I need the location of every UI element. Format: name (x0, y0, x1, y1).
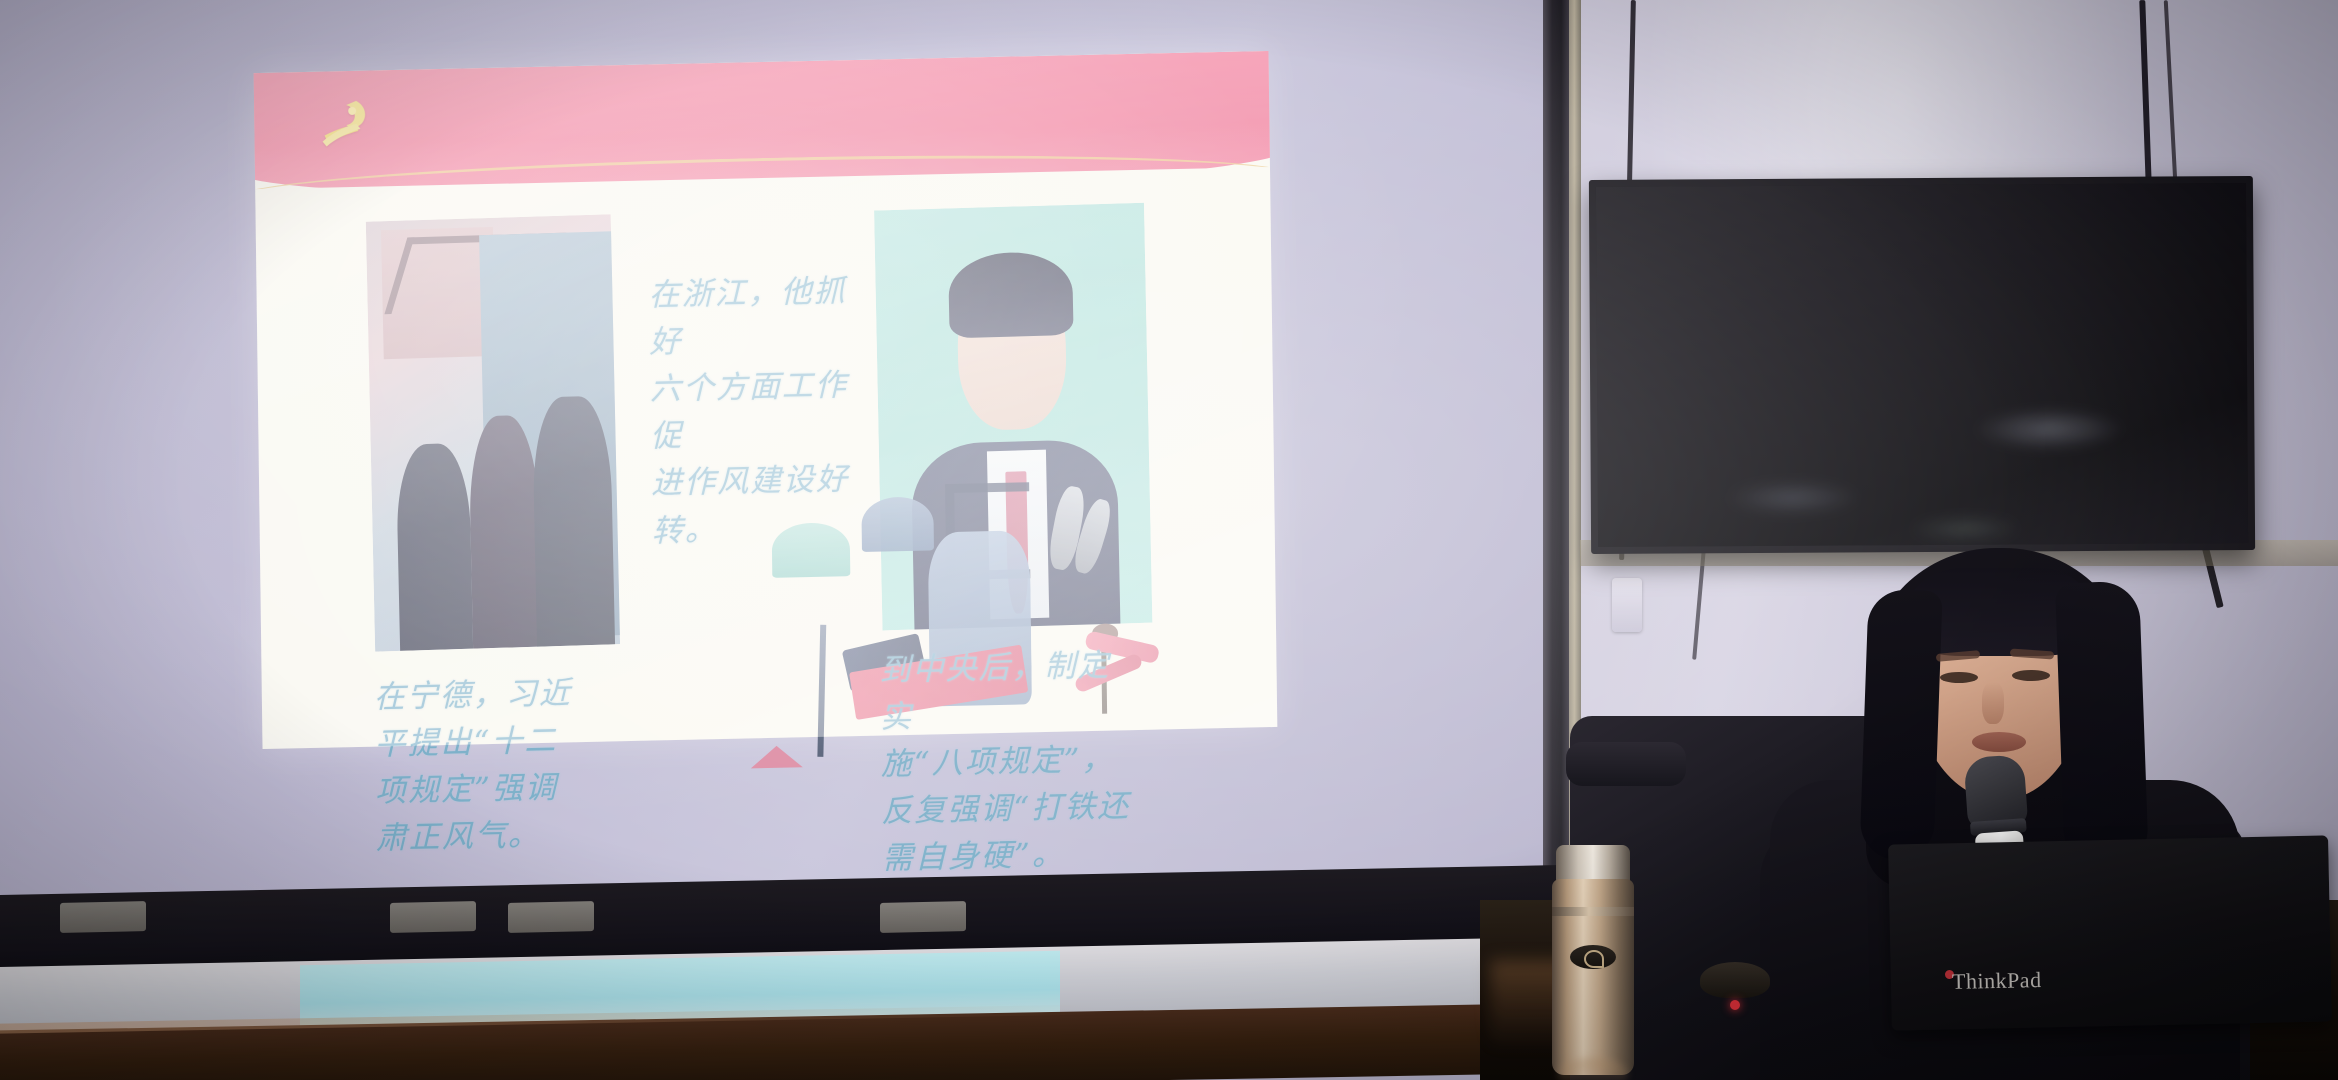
presenter-hair (1859, 589, 1942, 861)
photo-figure (861, 496, 934, 552)
wall-socket[interactable] (1612, 578, 1642, 632)
slide-photo-group (366, 214, 620, 651)
laptop-lid (1888, 835, 2332, 1030)
thinkpad-logo-text: ThinkPad (1952, 967, 2042, 995)
thermos-logo (1570, 945, 1616, 969)
presenter-hair (2055, 581, 2149, 872)
slide-banner (254, 51, 1270, 189)
seat[interactable] (390, 901, 476, 933)
presenter-eye (2012, 670, 2050, 681)
tv-screen (1596, 183, 2248, 547)
slide-text-zhongyang: 到中央后，制定实 施“八项规定”， 反复强调“打铁还 需自身硬”。 (879, 642, 1132, 883)
thermos[interactable] (1552, 845, 1634, 1075)
party-emblem-icon (312, 90, 377, 151)
slide-text-zhejiang: 在浙江，他抓好 六个方面工作促 进作风建设好转。 (648, 268, 872, 555)
desk-object[interactable] (1700, 962, 1770, 998)
presenter-eye (1940, 672, 1978, 683)
photo-layer (751, 745, 803, 768)
wall-mounted-tv[interactable] (1589, 176, 2255, 554)
laptop[interactable]: ThinkPad (1890, 840, 2330, 1050)
presenter-mouth (1972, 732, 2026, 752)
photo-figure (395, 442, 473, 651)
thermos-ring (1552, 907, 1634, 916)
presenter-nose (1982, 682, 2004, 724)
seat[interactable] (880, 901, 966, 933)
photo-layer (817, 625, 826, 757)
conference-room-photo: 在浙江，他抓好 六个方面工作促 进作风建设好转。 在宁德，习近 平提出“十二 项… (0, 0, 2338, 1080)
seat[interactable] (508, 901, 594, 933)
seat[interactable] (60, 901, 146, 933)
projected-slide: 在浙江，他抓好 六个方面工作促 进作风建设好转。 在宁德，习近 平提出“十二 项… (254, 51, 1278, 749)
chair-armrest (1566, 742, 1686, 786)
slide-text-ningde: 在宁德，习近 平提出“十二 项规定”强调 肃正风气。 (374, 670, 606, 863)
photo-figure (531, 395, 615, 647)
status-led (1730, 1000, 1740, 1010)
